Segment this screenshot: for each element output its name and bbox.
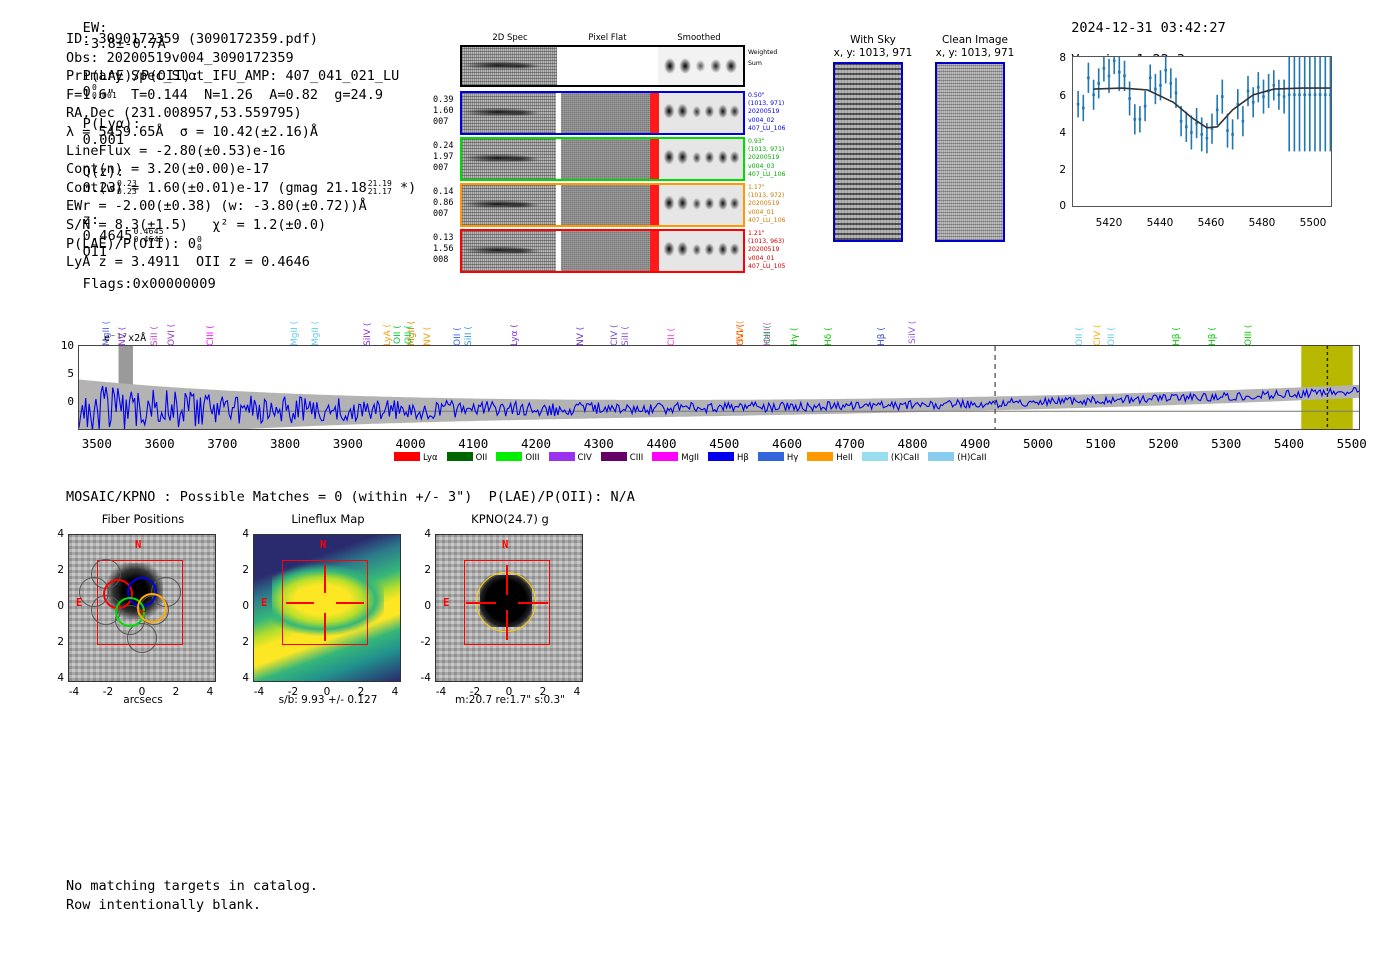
fiber3-wavelength-marker bbox=[650, 185, 658, 225]
info-line-z: LyA z = 3.4911 OII z = 0.4646 bbox=[66, 253, 416, 272]
contw-suffix: *) bbox=[400, 180, 416, 196]
cutout-image-with-sky[interactable] bbox=[833, 62, 903, 242]
spec-xtick-5000: 5000 bbox=[1023, 436, 1053, 451]
contw-sub: 21.17 bbox=[368, 187, 392, 196]
fiber3-meta: 1.17" (1013, 972) 20200519 v004_01 407_L… bbox=[748, 184, 785, 225]
col-header-pixelflat: Pixel Flat bbox=[560, 33, 655, 43]
legend-label: MgII bbox=[681, 453, 699, 463]
spec-xtick-4300: 4300 bbox=[584, 436, 614, 451]
weighted-smoothed-image bbox=[658, 47, 743, 85]
lp-xtick-5460: 5460 bbox=[1198, 217, 1225, 229]
compass-n-label: N bbox=[135, 539, 141, 551]
info-line-id: ID: 3090172359 (3090172359.pdf) bbox=[66, 30, 416, 49]
fiber2-num-1: 1.97 bbox=[433, 152, 453, 162]
info-line-seeing: F=1.6" T=0.144 N=1.26 A=0.82 g=24.9 bbox=[66, 86, 416, 105]
fiber2-smoothed-image bbox=[659, 139, 743, 179]
fiber4-wavelength-marker bbox=[650, 231, 658, 271]
fiber1-meta: 0.50" (1013, 971) 20200519 v004_02 407_L… bbox=[748, 92, 785, 133]
emission-line-label: MgII ( bbox=[312, 310, 321, 346]
fiber4-num-0: 0.13 bbox=[433, 233, 453, 243]
cutout-image-clean[interactable] bbox=[935, 62, 1005, 242]
info-line-sn: S/N = 8.3(±1.5) χ² = 1.2(±0.0) bbox=[66, 216, 416, 235]
spec-xtick-4100: 4100 bbox=[458, 436, 488, 451]
legend-item: (K)CaII bbox=[862, 452, 919, 463]
kpno-caption: m:20.7 re:1.7" s:0.3" bbox=[415, 694, 605, 706]
spectrum-svg bbox=[79, 346, 1359, 429]
weighted-2dspec-image bbox=[462, 47, 557, 85]
legend-swatch bbox=[708, 452, 734, 461]
legend-item: Hβ bbox=[708, 452, 749, 463]
panel3-ytick: -4 bbox=[411, 672, 431, 684]
spec-xtick-3900: 3900 bbox=[333, 436, 363, 451]
lp-xtick-5500: 5500 bbox=[1300, 217, 1327, 229]
legend-item: CIII bbox=[601, 452, 643, 463]
fiber4-num-2: 008 bbox=[433, 255, 448, 265]
panel-title-kpno: KPNO(24.7) g bbox=[420, 512, 600, 526]
fiber2-wavelength-marker bbox=[650, 139, 658, 179]
legend-swatch bbox=[394, 452, 420, 461]
legend-swatch bbox=[549, 452, 575, 461]
legend-item: (H)CaII bbox=[928, 452, 986, 463]
legend-swatch bbox=[447, 452, 473, 461]
spec-xtick-4600: 4600 bbox=[772, 436, 802, 451]
spec-xtick-3500: 3500 bbox=[82, 436, 112, 451]
info-line-ewr: EWr = -2.00(±0.38) (w: -3.80(±0.72))Å bbox=[66, 197, 416, 216]
spec-xtick-3600: 3600 bbox=[145, 436, 175, 451]
legend-item: HeII bbox=[807, 452, 853, 463]
legend-swatch bbox=[601, 452, 627, 461]
fiber1-wavelength-marker bbox=[650, 93, 658, 133]
legend-item: OIII bbox=[496, 452, 539, 463]
emission-line-label: SiIV ( bbox=[737, 278, 746, 344]
lp-xtick-5480: 5480 bbox=[1249, 217, 1276, 229]
compass-e-label: E bbox=[443, 597, 449, 609]
fiber2-meta: 0.93" (1013, 971) 20200519 v004_03 407_L… bbox=[748, 138, 785, 179]
fiber2-pixelflat-image bbox=[561, 139, 650, 179]
lineflux-map-image[interactable]: N E bbox=[253, 534, 401, 682]
fiber1-smoothed-image bbox=[659, 93, 743, 133]
fiber4-num-1: 1.56 bbox=[433, 244, 453, 254]
fiber3-pixelflat-image bbox=[561, 185, 650, 225]
panel2-ytick: 2 bbox=[229, 636, 249, 648]
info-line-contn: Cont(n) = 3.20(±0.00)e-17 bbox=[66, 160, 416, 179]
legend-item: MgII bbox=[652, 452, 699, 463]
legend-item: CIV bbox=[549, 452, 592, 463]
emission-line-label: SiIV ( bbox=[364, 310, 373, 346]
spec-ytick-0: 0 bbox=[67, 395, 74, 408]
cutout-coords-clean-image: x, y: 1013, 971 bbox=[908, 47, 1042, 59]
fiber1-num-0: 0.39 bbox=[433, 95, 453, 105]
fiber2-num-0: 0.24 bbox=[433, 141, 453, 151]
spec-xtick-5400: 5400 bbox=[1274, 436, 1304, 451]
fiber3-num-2: 007 bbox=[433, 209, 448, 219]
legend-item: Lyα bbox=[394, 452, 438, 463]
fiber1-num-2: 007 bbox=[433, 117, 448, 127]
footer-line-2: Row intentionally blank. bbox=[66, 896, 318, 915]
lp-ytick-8: 8 bbox=[1038, 52, 1066, 64]
panel3-ytick: 4 bbox=[411, 528, 431, 540]
fiber-strip-2 bbox=[460, 137, 745, 181]
emission-line-label: OII ( bbox=[1108, 310, 1117, 346]
spec-xtick-5100: 5100 bbox=[1086, 436, 1116, 451]
spec2d-panel: 2D Spec Pixel Flat Smoothed Weighted Sum… bbox=[435, 33, 790, 263]
fiber2-2dspec-image bbox=[462, 139, 556, 179]
panel2-ytick: 4 bbox=[229, 528, 249, 540]
legend-label: CIII bbox=[630, 453, 643, 463]
spec-xtick-4400: 4400 bbox=[646, 436, 676, 451]
legend-label: OIII bbox=[525, 453, 539, 463]
compass-e-label: E bbox=[261, 597, 267, 609]
legend-item: Hγ bbox=[758, 452, 798, 463]
panel1-ytick: 4 bbox=[44, 528, 64, 540]
crosshair-v-top bbox=[324, 565, 326, 593]
spec-xtick-5200: 5200 bbox=[1148, 436, 1178, 451]
crosshair-h-left bbox=[466, 602, 496, 604]
contw-prefix: Cont(w) = 1.60(±0.01)e-17 (gmag 21.18 bbox=[66, 180, 367, 196]
panel3-ytick: -2 bbox=[411, 636, 431, 648]
fiber3-smoothed-image bbox=[659, 185, 743, 225]
legend-label: CIV bbox=[578, 453, 592, 463]
panel1-ytick: 0 bbox=[44, 600, 64, 612]
legend-swatch bbox=[652, 452, 678, 461]
crosshair-h-right bbox=[336, 602, 364, 604]
info-plae-sub: 0 bbox=[197, 243, 202, 252]
fiber-strip-3 bbox=[460, 183, 745, 227]
legend-label: Hγ bbox=[787, 453, 798, 463]
emission-line-label: NV ( bbox=[577, 310, 586, 346]
fiber4-meta: 1.21" (1013, 963) 20200519 v004_01 407_L… bbox=[748, 230, 785, 271]
fiber-center-cross: + bbox=[139, 605, 146, 618]
emission-line-label: OII ( bbox=[405, 278, 414, 344]
mosaic-header: MOSAIC/KPNO : Possible Matches = 0 (with… bbox=[66, 489, 635, 505]
info-plae-prefix: P(LAE)/P(OII): 0 bbox=[66, 236, 196, 252]
panel2-ytick: 0 bbox=[229, 600, 249, 612]
emission-line-label: SiII ( bbox=[151, 310, 160, 346]
lp-ytick-4: 4 bbox=[1038, 127, 1066, 139]
emission-line-label: LyA ( bbox=[384, 310, 393, 346]
fiber4-smoothed-image bbox=[659, 231, 743, 271]
flags-label: Flags:0x00000009 bbox=[83, 276, 216, 292]
fiber-strip-4 bbox=[460, 229, 745, 273]
weighted-pixelflat-image bbox=[562, 47, 652, 85]
spec-xtick-4500: 4500 bbox=[709, 436, 739, 451]
spec-xtick-4000: 4000 bbox=[395, 436, 425, 451]
info-line-lineflux: LineFlux = -2.80(±0.53)e-16 bbox=[66, 142, 416, 161]
panel3-ytick: 0 bbox=[411, 600, 431, 612]
spec-xtick-4800: 4800 bbox=[897, 436, 927, 451]
panel2-ytick: 4 bbox=[229, 672, 249, 684]
crosshair-h-left bbox=[286, 602, 314, 604]
emission-line-label: OII ( bbox=[764, 278, 773, 344]
footer-note: No matching targets in catalog. Row inte… bbox=[66, 877, 318, 915]
compass-e-label: E bbox=[76, 597, 82, 609]
fiber-strip-1 bbox=[460, 91, 745, 135]
fiber-positions-xlabel: arcsecs bbox=[48, 694, 238, 706]
legend-label: Hβ bbox=[737, 453, 749, 463]
legend-swatch bbox=[496, 452, 522, 461]
panel1-ytick: 4 bbox=[44, 672, 64, 684]
spec-xtick-5300: 5300 bbox=[1211, 436, 1241, 451]
emission-line-label: Hβ ( bbox=[878, 310, 887, 346]
crosshair-v-top bbox=[506, 565, 508, 595]
panel2-ytick: 2 bbox=[229, 564, 249, 576]
spectrum-legend: LyαOIIOIIICIVCIIIMgIIHβHγHeII(K)CaII(H)C… bbox=[394, 452, 986, 463]
lp-ytick-6: 6 bbox=[1038, 90, 1066, 102]
crosshair-v-bottom bbox=[506, 610, 508, 640]
emission-line-label: Lyα ( bbox=[511, 310, 520, 346]
spectrum-frame bbox=[78, 345, 1360, 430]
fiber1-pixelflat-image bbox=[561, 93, 650, 133]
panel1-ytick: 2 bbox=[44, 636, 64, 648]
info-line-radec: RA,Dec (231.008957,53.559795) bbox=[66, 104, 416, 123]
info-line-plae: P(LAE)/P(OII): 000 bbox=[66, 235, 416, 254]
weighted-sum-label: Weighted Sum bbox=[748, 47, 777, 69]
panel-title-fiber-positions: Fiber Positions bbox=[53, 512, 233, 526]
info-line-contw: Cont(w) = 1.60(±0.01)e-17 (gmag 21.1821.… bbox=[66, 179, 416, 198]
lp-ytick-0: 0 bbox=[1038, 200, 1066, 212]
emission-line-label: CIV ( bbox=[611, 310, 620, 346]
panel1-ytick: 2 bbox=[44, 564, 64, 576]
line-profile-chart: e⁻¹⁷x2Å 8 6 4 2 0 5420 5440 5460 5480 55… bbox=[1038, 50, 1338, 235]
fiber2-num-2: 007 bbox=[433, 163, 448, 173]
fiber1-2dspec-image bbox=[462, 93, 556, 133]
emission-line-label: SiII ( bbox=[622, 310, 631, 346]
emission-line-label: OII ( bbox=[394, 278, 403, 344]
full-spectrum-chart: 10 5 0 bbox=[78, 345, 1360, 430]
kpno-image[interactable]: N E bbox=[435, 534, 583, 682]
fiber-positions-image[interactable]: N E + bbox=[68, 534, 216, 682]
legend-swatch bbox=[807, 452, 833, 461]
line-profile-svg bbox=[1073, 57, 1333, 208]
emission-line-label: SiIV ( bbox=[909, 278, 918, 344]
spec-xtick-4700: 4700 bbox=[835, 436, 865, 451]
legend-swatch bbox=[862, 452, 888, 461]
fiber3-num-1: 0.86 bbox=[433, 198, 453, 208]
emission-line-label: Hγ ( bbox=[791, 310, 800, 346]
emission-line-label: SiII ( bbox=[465, 310, 474, 346]
emission-line-label: OIII ( bbox=[1245, 310, 1254, 346]
weighted-sum-strip bbox=[460, 45, 745, 87]
spec-xtick-4200: 4200 bbox=[521, 436, 551, 451]
compass-n-label: N bbox=[320, 539, 326, 551]
legend-label: OII bbox=[476, 453, 488, 463]
spec-xtick-5500: 5500 bbox=[1337, 436, 1367, 451]
crosshair-h-right bbox=[518, 602, 548, 604]
legend-item: OII bbox=[447, 452, 488, 463]
fiber-circle bbox=[127, 623, 157, 653]
col-header-2dspec: 2D Spec bbox=[460, 33, 560, 43]
lp-ytick-2: 2 bbox=[1038, 164, 1066, 176]
emission-line-label: NV ( bbox=[424, 310, 433, 346]
legend-swatch bbox=[758, 452, 784, 461]
cutout-title-with-sky: With Sky bbox=[828, 34, 918, 46]
emission-line-label: Hβ ( bbox=[1173, 310, 1182, 346]
info-line-primary: Primary Spec_Slot_IFU_AMP: 407_041_021_L… bbox=[66, 67, 416, 86]
emission-line-label: Hβ ( bbox=[1209, 310, 1218, 346]
line-profile-frame bbox=[1072, 56, 1332, 207]
emission-line-label: OII ( bbox=[454, 310, 463, 346]
fiber4-2dspec-image bbox=[462, 231, 556, 271]
object-info-block: ID: 3090172359 (3090172359.pdf) Obs: 202… bbox=[66, 30, 416, 272]
emission-line-label: CIII ( bbox=[207, 310, 216, 346]
info-line-obs: Obs: 20200519v004_3090172359 bbox=[66, 49, 416, 68]
spec-xtick-3800: 3800 bbox=[270, 436, 300, 451]
panel3-ytick: 2 bbox=[411, 564, 431, 576]
fiber3-num-0: 0.14 bbox=[433, 187, 453, 197]
emission-line-label: CII ( bbox=[668, 310, 677, 346]
lp-xtick-5420: 5420 bbox=[1096, 217, 1123, 229]
footer-line-1: No matching targets in catalog. bbox=[66, 877, 318, 896]
lp-xtick-5440: 5440 bbox=[1147, 217, 1174, 229]
emission-line-label: Hδ ( bbox=[825, 310, 834, 346]
timestamp: 2024-12-31 03:42:27 bbox=[1071, 20, 1225, 36]
spectrum-units: e⁻¹⁷x2Å bbox=[104, 333, 146, 344]
spec-ytick-10: 10 bbox=[61, 339, 74, 352]
emission-line-label: OII ( bbox=[1076, 310, 1085, 346]
spec-ytick-5: 5 bbox=[67, 367, 74, 380]
fiber1-num-1: 1.60 bbox=[433, 106, 453, 116]
spec-xtick-3700: 3700 bbox=[207, 436, 237, 451]
legend-label: (K)CaII bbox=[891, 453, 919, 463]
fiber3-2dspec-image bbox=[462, 185, 556, 225]
info-line-lambda: λ = 5459.65Å σ = 10.42(±2.16)Å bbox=[66, 123, 416, 142]
fiber4-pixelflat-image bbox=[561, 231, 650, 271]
lineflux-caption: s/b: 9.93 +/- 0.127 bbox=[233, 694, 423, 706]
emission-line-label: CIV ( bbox=[1094, 310, 1103, 346]
col-header-smoothed: Smoothed bbox=[653, 33, 745, 43]
legend-label: HeII bbox=[836, 453, 853, 463]
legend-label: Lyα bbox=[423, 453, 438, 463]
legend-swatch bbox=[928, 452, 954, 461]
compass-n-label: N bbox=[502, 539, 508, 551]
panel-title-lineflux-map: Lineflux Map bbox=[238, 512, 418, 526]
legend-label: (H)CaII bbox=[957, 453, 986, 463]
emission-line-label: OVI ( bbox=[168, 310, 177, 346]
cutout-title-clean-image: Clean Image bbox=[930, 34, 1020, 46]
crosshair-v-bottom bbox=[324, 613, 326, 641]
emission-line-label: MgII ( bbox=[291, 310, 300, 346]
spec-xtick-4900: 4900 bbox=[960, 436, 990, 451]
